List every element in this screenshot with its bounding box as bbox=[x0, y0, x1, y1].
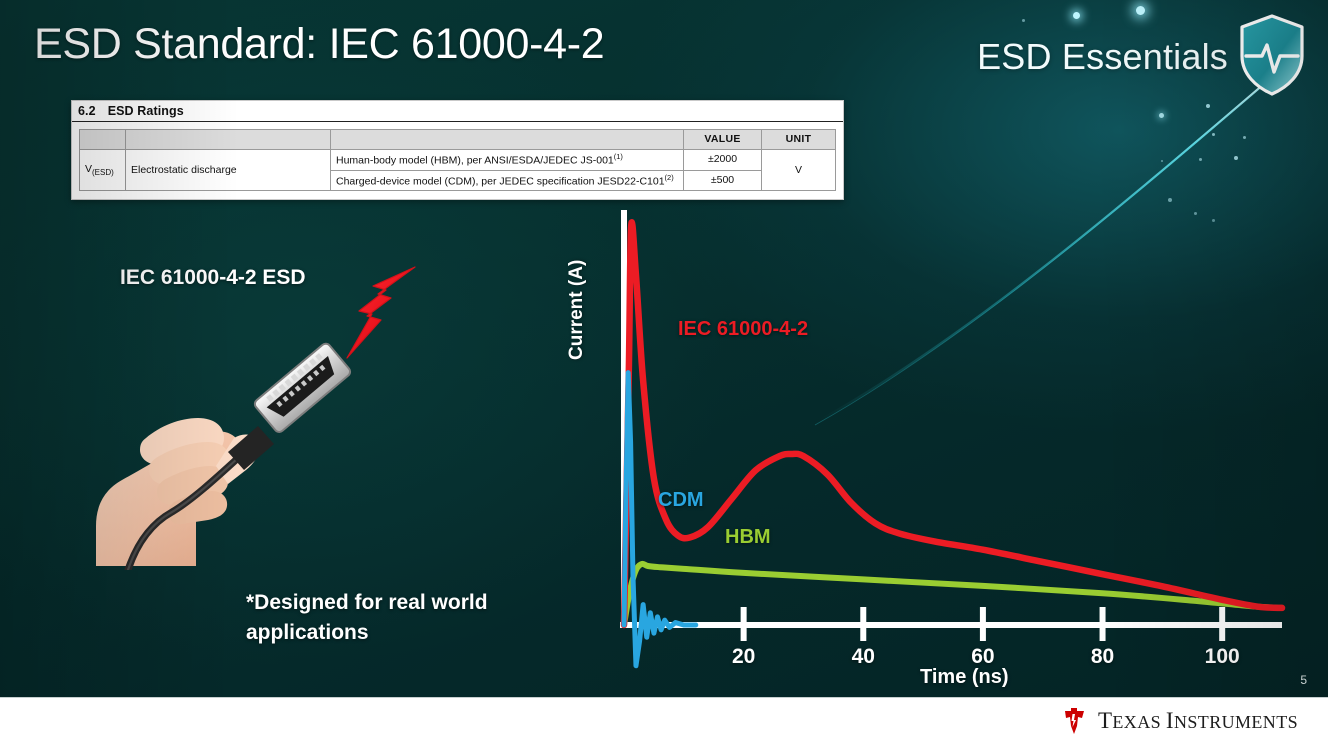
cell-symbol: V(ESD) bbox=[80, 150, 126, 191]
particle-glow bbox=[1136, 6, 1145, 15]
ti-i: I bbox=[1166, 708, 1174, 733]
note-text: *Designed for real world applications bbox=[246, 588, 576, 648]
x-tick-label: 60 bbox=[971, 645, 994, 669]
hand-holding-hdmi-connector-icon bbox=[88, 330, 388, 570]
table-body: V(ESD) Electrostatic discharge Human-bod… bbox=[80, 150, 836, 191]
slide-stage: ESD Standard: IEC 61000-4-2 ESD Essentia… bbox=[0, 0, 1328, 697]
esd-illustration-label: IEC 61000-4-2 ESD bbox=[120, 266, 306, 290]
header-unit: UNIT bbox=[762, 130, 836, 150]
table-row: V(ESD) Electrostatic discharge Human-bod… bbox=[80, 150, 836, 171]
x-tick-label: 80 bbox=[1091, 645, 1114, 669]
description-text: Human-body model (HBM), per ANSI/ESDA/JE… bbox=[336, 155, 614, 167]
esd-waveform-chart bbox=[566, 200, 1306, 697]
cell-description: Charged-device model (CDM), per JEDEC sp… bbox=[331, 170, 684, 191]
texas-instruments-logo: TEXAS INSTRUMENTS bbox=[1059, 706, 1298, 736]
table-section-number: 6.2 bbox=[78, 104, 96, 118]
particle-glow bbox=[1199, 158, 1202, 161]
header-description-blank bbox=[331, 130, 684, 150]
particle-glow bbox=[1243, 136, 1246, 139]
cell-unit: V bbox=[762, 150, 836, 191]
y-axis-title: Current (A) bbox=[566, 330, 588, 360]
esd-ratings-table: 6.2ESD Ratings VALUE UNIT V(ESD) Electr bbox=[71, 100, 844, 200]
slide-footer: TEXAS INSTRUMENTS bbox=[0, 697, 1328, 746]
header-value: VALUE bbox=[684, 130, 762, 150]
ti-nstruments: NSTRUMENTS bbox=[1174, 712, 1298, 732]
texas-instruments-logo-icon bbox=[1059, 706, 1089, 736]
curve-label-hbm: HBM bbox=[725, 526, 771, 549]
page-number: 5 bbox=[1300, 673, 1307, 687]
brand-lockup: ESD Essentials bbox=[977, 16, 1308, 98]
x-tick-label: 40 bbox=[852, 645, 875, 669]
table-caption-text: ESD Ratings bbox=[108, 104, 184, 118]
particle-glow bbox=[1206, 104, 1210, 108]
header-symbol-blank bbox=[80, 130, 126, 150]
particle-glow bbox=[1212, 133, 1215, 136]
ti-t: T bbox=[1098, 708, 1112, 733]
curve-label-cdm: CDM bbox=[658, 489, 704, 512]
footnote-marker: (1) bbox=[614, 152, 623, 161]
x-tick-label: 20 bbox=[732, 645, 755, 669]
brand-title: ESD Essentials bbox=[977, 36, 1228, 78]
footnote-marker: (2) bbox=[665, 173, 674, 182]
ti-exas: EXAS bbox=[1112, 712, 1166, 732]
x-tick-label: 100 bbox=[1205, 645, 1240, 669]
page-title: ESD Standard: IEC 61000-4-2 bbox=[34, 20, 604, 69]
particle-glow bbox=[1161, 160, 1163, 162]
series-line-iec bbox=[624, 222, 1282, 625]
description-text: Charged-device model (CDM), per JEDEC sp… bbox=[336, 175, 665, 187]
table-caption: 6.2ESD Ratings bbox=[72, 101, 843, 122]
ti-wordmark: TEXAS INSTRUMENTS bbox=[1098, 708, 1298, 734]
cell-value: ±2000 bbox=[684, 150, 762, 171]
symbol-letter: V bbox=[85, 163, 92, 175]
x-axis-title: Time (ns) bbox=[920, 666, 1009, 689]
cell-description: Human-body model (HBM), per ANSI/ESDA/JE… bbox=[331, 150, 684, 171]
ratings-grid: VALUE UNIT V(ESD) Electrostatic discharg… bbox=[79, 129, 836, 191]
note-line-1: *Designed for real world bbox=[246, 591, 488, 614]
table-header: VALUE UNIT bbox=[80, 130, 836, 150]
cell-value: ±500 bbox=[684, 170, 762, 191]
note-line-2: applications bbox=[246, 621, 369, 644]
symbol-subscript: (ESD) bbox=[92, 168, 114, 177]
table-header-row: VALUE UNIT bbox=[80, 130, 836, 150]
cell-parameter: Electrostatic discharge bbox=[126, 150, 331, 191]
series-line-cdm bbox=[624, 373, 696, 666]
slide-root: ESD Standard: IEC 61000-4-2 ESD Essentia… bbox=[0, 0, 1328, 746]
particle-glow bbox=[1234, 156, 1238, 160]
particle-glow bbox=[1159, 113, 1164, 118]
curve-label-iec: IEC 61000-4-2 bbox=[678, 318, 808, 341]
shield-heartbeat-icon bbox=[1236, 12, 1308, 98]
series-line-hbm bbox=[624, 564, 1282, 625]
header-parameter-blank bbox=[126, 130, 331, 150]
